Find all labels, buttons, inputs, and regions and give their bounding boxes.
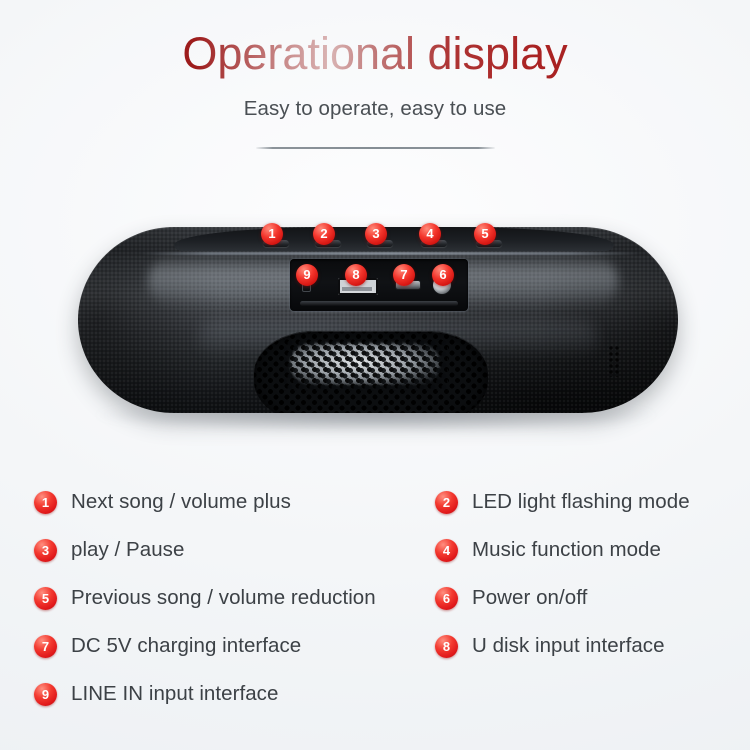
legend-badge-9: 9	[34, 683, 57, 706]
callout-marker-7: 7	[393, 264, 415, 286]
legend-badge-5: 5	[34, 587, 57, 610]
legend-item-2: 2LED light flashing mode	[435, 487, 690, 517]
callout-marker-1: 1	[261, 223, 283, 245]
callout-marker-4: 4	[419, 223, 441, 245]
legend-item-3: 3play / Pause	[34, 535, 184, 565]
legend-label-7: DC 5V charging interface	[71, 634, 301, 658]
legend-item-8: 8U disk input interface	[435, 631, 665, 661]
speaker-body	[78, 227, 678, 413]
legend-label-5: Previous song / volume reduction	[71, 586, 376, 610]
legend-badge-3: 3	[34, 539, 57, 562]
legend-label-1: Next song / volume plus	[71, 490, 291, 514]
legend-item-6: 6Power on/off	[435, 583, 587, 613]
legend-badge-4: 4	[435, 539, 458, 562]
page-title: Operational display	[0, 0, 750, 80]
speaker-top-edge	[140, 252, 640, 255]
header-divider	[256, 147, 495, 149]
legend-label-6: Power on/off	[472, 586, 587, 610]
legend-item-1: 1Next song / volume plus	[34, 487, 291, 517]
legend-item-9: 9LINE IN input interface	[34, 679, 278, 709]
legend-label-3: play / Pause	[71, 538, 184, 562]
page-subtitle: Easy to operate, easy to use	[0, 80, 750, 121]
legend-item-5: 5Previous song / volume reduction	[34, 583, 376, 613]
grille-inner-rim	[254, 331, 488, 413]
legend-badge-8: 8	[435, 635, 458, 658]
callout-marker-3: 3	[365, 223, 387, 245]
legend-item-4: 4Music function mode	[435, 535, 661, 565]
header: Operational display Easy to operate, eas…	[0, 0, 750, 121]
product-image: 123459876	[0, 190, 750, 455]
product-infographic-page: Operational display Easy to operate, eas…	[0, 0, 750, 750]
legend-badge-7: 7	[34, 635, 57, 658]
port-panel-slot	[300, 301, 458, 306]
legend: 1Next song / volume plus3play / Pause5Pr…	[0, 466, 750, 750]
callout-marker-8: 8	[345, 264, 367, 286]
callout-marker-5: 5	[474, 223, 496, 245]
legend-label-2: LED light flashing mode	[472, 490, 690, 514]
speaker-top-face	[174, 227, 614, 251]
legend-badge-2: 2	[435, 491, 458, 514]
side-vent-holes	[608, 345, 620, 377]
callout-marker-6: 6	[432, 264, 454, 286]
callout-marker-9: 9	[296, 264, 318, 286]
legend-label-9: LINE IN input interface	[71, 682, 278, 706]
legend-label-8: U disk input interface	[472, 634, 665, 658]
legend-label-4: Music function mode	[472, 538, 661, 562]
legend-badge-1: 1	[34, 491, 57, 514]
legend-badge-6: 6	[435, 587, 458, 610]
speaker-perforated-grille	[254, 331, 488, 413]
callout-marker-2: 2	[313, 223, 335, 245]
legend-item-7: 7DC 5V charging interface	[34, 631, 301, 661]
